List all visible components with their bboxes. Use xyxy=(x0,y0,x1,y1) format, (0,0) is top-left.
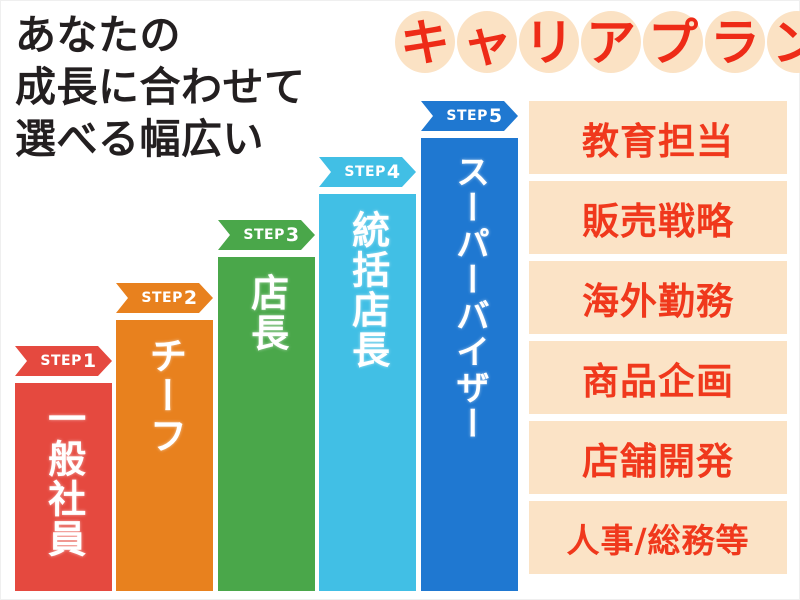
step-badge-label: STEP xyxy=(243,227,284,243)
step-bar-label: 統括店長 xyxy=(347,210,387,370)
career-plan-infographic: あなたの 成長に合わせて 選べる幅広い キャリアプラン STEP1一般社員STE… xyxy=(0,0,800,600)
step-badge-2: STEP2 xyxy=(116,283,213,313)
step-column-4: STEP4統括店長 xyxy=(319,157,416,591)
role-tag-text: 海外勤務 xyxy=(582,271,734,325)
role-tag: 商品企画 xyxy=(529,341,787,414)
title-badge-char: ア xyxy=(579,7,643,79)
step-badge-label: STEP xyxy=(141,290,182,306)
step-badge-number: 3 xyxy=(286,226,300,245)
title-badge-char: リ xyxy=(517,7,581,79)
title-badge-char: ャ xyxy=(455,7,519,79)
role-tag-list: 教育担当販売戦略海外勤務商品企画店舗開発人事/総務等 xyxy=(529,101,787,581)
role-tag: 教育担当 xyxy=(529,101,787,174)
step-badge-number: 1 xyxy=(83,352,97,371)
title-badge: キャリアプラン xyxy=(393,5,800,81)
step-bar-3: 店長 xyxy=(218,257,315,591)
headline: あなたの 成長に合わせて 選べる幅広い xyxy=(15,9,415,165)
role-tag-text: 店舗開発 xyxy=(582,431,734,485)
step-badge-3: STEP3 xyxy=(218,220,315,250)
title-badge-char: ラ xyxy=(703,7,767,79)
role-tag: 店舗開発 xyxy=(529,421,787,494)
title-badge-char-text: ア xyxy=(586,18,636,68)
step-column-5: STEP5スーパーバイザー xyxy=(421,101,518,591)
title-badge-char-text: ャ xyxy=(462,18,512,68)
title-badge-char-text: ン xyxy=(772,18,800,68)
role-tag-text: 商品企画 xyxy=(582,351,734,405)
title-badge-char-text: ラ xyxy=(710,18,760,68)
step-bar-5: スーパーバイザー xyxy=(421,138,518,591)
title-badge-char: ン xyxy=(765,7,800,79)
step-badge-label: STEP xyxy=(446,108,487,124)
role-tag-text: 販売戦略 xyxy=(582,191,734,245)
step-badge-label: STEP xyxy=(344,164,385,180)
step-column-1: STEP1一般社員 xyxy=(15,346,112,591)
title-badge-char-text: プ xyxy=(648,18,698,68)
step-badge-1: STEP1 xyxy=(15,346,112,376)
step-bar-1: 一般社員 xyxy=(15,383,112,591)
step-badge-number: 4 xyxy=(387,163,401,182)
headline-line-2: 成長に合わせて xyxy=(15,61,415,113)
step-bar-4: 統括店長 xyxy=(319,194,416,591)
step-column-3: STEP3店長 xyxy=(218,220,315,591)
step-badge-label: STEP xyxy=(40,353,81,369)
role-tag: 人事/総務等 xyxy=(529,501,787,574)
step-badge-number: 5 xyxy=(489,107,503,126)
title-badge-char-text: リ xyxy=(524,18,574,68)
step-bar-label: 一般社員 xyxy=(43,399,83,559)
headline-line-1: あなたの xyxy=(15,9,415,61)
role-tag: 海外勤務 xyxy=(529,261,787,334)
title-badge-char: キ xyxy=(393,7,457,79)
role-tag-text: 教育担当 xyxy=(582,111,734,165)
step-bar-label: 店長 xyxy=(246,273,286,353)
role-tag-text: 人事/総務等 xyxy=(566,514,749,562)
step-bar-2: チーフ xyxy=(116,320,213,591)
role-tag: 販売戦略 xyxy=(529,181,787,254)
title-badge-char-text: キ xyxy=(400,18,450,68)
step-column-2: STEP2チーフ xyxy=(116,283,213,591)
step-bar-label: スーパーバイザー xyxy=(451,154,487,442)
title-badge-char: プ xyxy=(641,7,705,79)
step-badge-5: STEP5 xyxy=(421,101,518,131)
step-badge-number: 2 xyxy=(184,289,198,308)
step-badge-4: STEP4 xyxy=(319,157,416,187)
step-bar-label: チーフ xyxy=(144,336,184,456)
